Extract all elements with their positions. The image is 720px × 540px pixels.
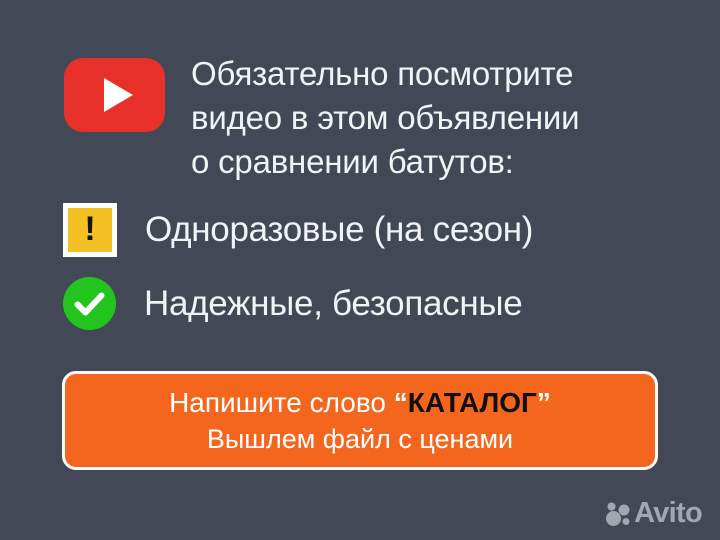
list-item-reliable: Надежные, безопасные (63, 277, 703, 330)
avito-watermark: Avito (605, 499, 702, 528)
list-item-label: Надежные, безопасные (144, 284, 522, 324)
list-item-label: Одноразовые (на сезон) (145, 210, 533, 250)
warning-icon-inner: ! (68, 208, 112, 252)
headline-line-1: Обязательно посмотрите (191, 52, 579, 96)
cta-primary-line: Напишите слово “КАТАЛОГ” (169, 386, 551, 420)
cta-quote-open: “ (394, 387, 408, 418)
page-title: Обязательно посмотрите видео в этом объя… (191, 52, 579, 184)
cta-keyword: КАТАЛОГ (408, 387, 537, 418)
list-item-disposable: ! Одноразовые (на сезон) (63, 203, 703, 257)
avito-dots-logo (605, 501, 631, 527)
play-triangle-icon (104, 78, 133, 112)
cta-secondary-line: Вышлем файл с ценами (207, 422, 513, 456)
avito-wordmark: Avito (634, 499, 702, 528)
cta-prefix-text: Напишите слово (169, 387, 394, 418)
cta-quote-close: ” (537, 387, 551, 418)
youtube-play-icon (64, 58, 165, 132)
headline-line-2: видео в этом объявлении (191, 96, 579, 140)
header-block: Обязательно посмотрите видео в этом объя… (64, 52, 684, 184)
catalog-cta-button[interactable]: Напишите слово “КАТАЛОГ” Вышлем файл с ц… (62, 371, 658, 470)
warning-exclamation-icon: ! (63, 203, 117, 257)
warning-icon-glyph: ! (84, 212, 95, 246)
avito-ad-card: Обязательно посмотрите видео в этом объя… (0, 0, 720, 540)
headline-line-3: о сравнении батутов: (191, 140, 579, 184)
check-circle-icon (63, 277, 116, 330)
